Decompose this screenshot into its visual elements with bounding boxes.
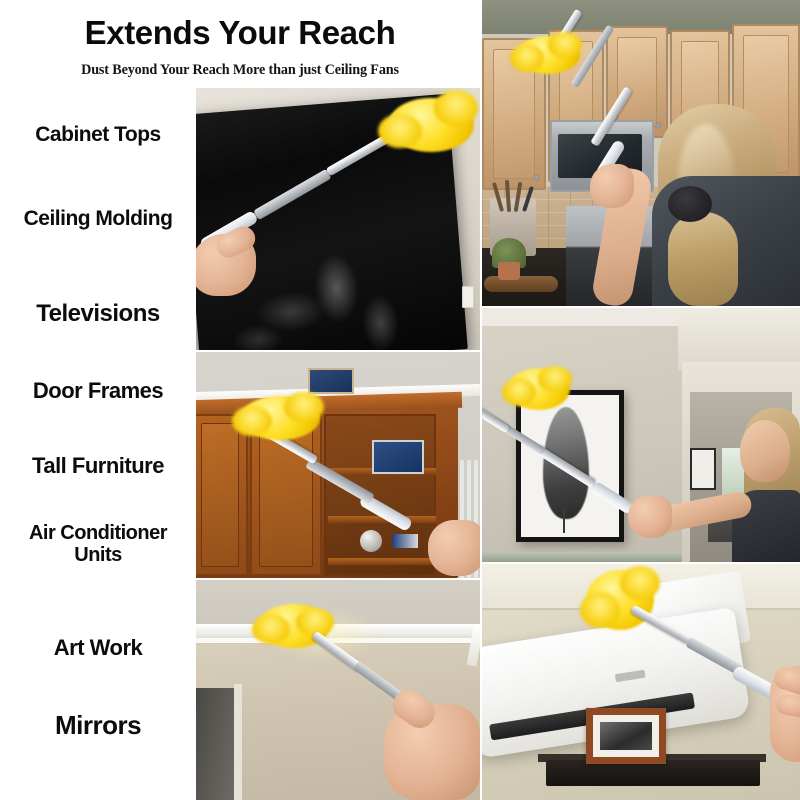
feature-label: Air Conditioner Units (29, 522, 167, 566)
feature-label: Cabinet Tops (35, 123, 160, 146)
hand (590, 164, 634, 208)
photo-ceiling-molding-dusting (196, 580, 480, 800)
yellow-duster-tuft (284, 392, 324, 422)
header: Extends Your Reach Dust Beyond Your Reac… (0, 0, 480, 92)
flower-pot (498, 262, 520, 280)
screen-glare (360, 293, 400, 350)
feature-label: Televisions (36, 300, 159, 327)
photo-air-conditioner-dusting (482, 564, 800, 800)
book (392, 534, 418, 548)
feature-item-door-frames: Door Frames (0, 379, 196, 403)
feature-item-tall-furniture: Tall Furniture (0, 454, 196, 478)
cabinet-knob (534, 175, 539, 180)
feature-item-ceiling-molding: Ceiling Molding (0, 208, 196, 231)
feature-item-mirrors: Mirrors (0, 711, 196, 739)
feature-item-air-conditioner-units: Air Conditioner Units (0, 523, 196, 566)
ponytail (668, 212, 738, 306)
photo-kitchen-cabinet-tops-dusting (482, 0, 800, 306)
feature-label: Tall Furniture (32, 453, 164, 478)
head (740, 420, 790, 482)
framed-photograph (586, 708, 666, 764)
door-casing (234, 684, 242, 800)
photo-furniture-top-dusting (196, 352, 480, 578)
feature-item-art-work: Art Work (0, 636, 196, 660)
soffit (678, 308, 800, 370)
framed-photo (372, 440, 424, 474)
feature-item-cabinet-tops: Cabinet Tops (0, 124, 196, 147)
yellow-duster-tuft (548, 32, 582, 58)
cabinet-knob (656, 123, 661, 128)
yellow-duster-tuft (538, 366, 572, 392)
table-surface (482, 552, 682, 562)
wall-outlet (462, 286, 474, 308)
feature-item-televisions: Televisions (0, 301, 196, 327)
photo-television-dusting (196, 88, 480, 350)
cabinet-panel (617, 37, 657, 127)
yellow-duster-tuft (378, 114, 422, 148)
feature-label: Mirrors (55, 710, 141, 740)
framed-photo-on-top (308, 368, 354, 394)
cabinet-door (196, 414, 248, 576)
ceiling (482, 308, 682, 326)
background-artwork (690, 448, 716, 490)
serving-tray (484, 276, 558, 292)
yellow-duster-tuft (620, 566, 660, 600)
shelf (328, 558, 436, 565)
photo-artwork-dusting (482, 308, 800, 562)
page-title: Extends Your Reach (0, 14, 480, 52)
doorway (196, 688, 236, 800)
yellow-duster-tuft (434, 90, 478, 126)
yellow-duster-tuft (252, 614, 290, 644)
hand (628, 496, 672, 538)
feature-list: Cabinet Tops Ceiling Molding Televisions… (0, 96, 196, 800)
feature-label: Ceiling Molding (24, 207, 173, 230)
photograph-image (600, 722, 652, 750)
yellow-duster-tuft (510, 44, 544, 72)
feature-label: Art Work (54, 635, 143, 660)
ac-brand-badge (615, 670, 646, 683)
decorative-ball (360, 530, 382, 552)
scrunchie (668, 186, 712, 222)
door-panel (201, 423, 239, 567)
feather-quill (563, 507, 565, 533)
product-feature-poster: Extends Your Reach Dust Beyond Your Reac… (0, 0, 800, 800)
yellow-duster-tuft (232, 406, 272, 436)
yellow-duster-tuft (502, 378, 536, 406)
feature-label: Door Frames (33, 378, 163, 403)
hand (428, 520, 480, 576)
open-glass-bay (324, 414, 436, 576)
yellow-duster-tuft (580, 592, 620, 628)
page-subtitle: Dust Beyond Your Reach More than just Ce… (0, 62, 480, 79)
